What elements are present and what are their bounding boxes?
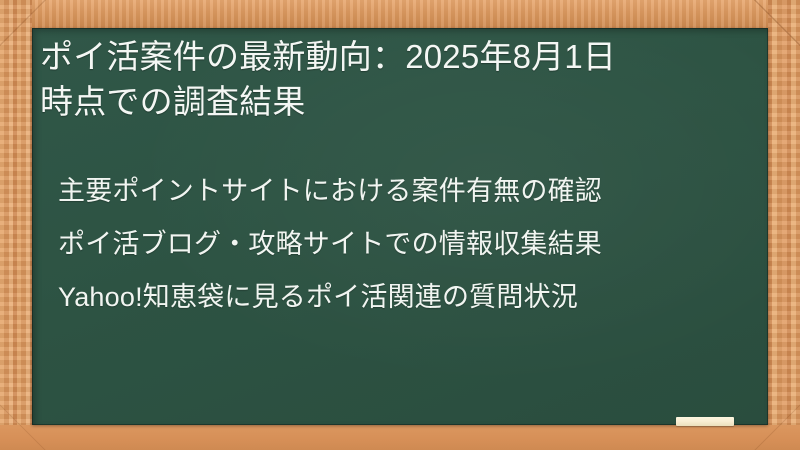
slide-title: ポイ活案件の最新動向：2025年8月1日 時点での調査結果: [40, 34, 758, 124]
frame-rail-left: [0, 0, 32, 450]
chalkboard-slide: ポイ活案件の最新動向：2025年8月1日 時点での調査結果 主要ポイントサイトに…: [0, 0, 800, 450]
frame-rail-top: [0, 0, 800, 28]
bullet-item-2: ポイ活ブログ・攻略サイトでの情報収集結果: [58, 231, 758, 258]
slide-title-line-2: 時点での調査結果: [40, 79, 758, 124]
chalkboard-surface: ポイ活案件の最新動向：2025年8月1日 時点での調査結果 主要ポイントサイトに…: [32, 28, 768, 425]
bullet-item-1: 主要ポイントサイトにおける案件有無の確認: [58, 178, 758, 205]
bullet-item-3: Yahoo!知恵袋に見るポイ活関連の質問状況: [58, 284, 758, 311]
frame-ledge-bottom: [0, 425, 800, 450]
chalk-stick: [676, 417, 734, 426]
bullet-list: 主要ポイントサイトにおける案件有無の確認 ポイ活ブログ・攻略サイトでの情報収集結…: [58, 178, 758, 337]
frame-rail-right: [768, 0, 800, 450]
slide-title-line-1: ポイ活案件の最新動向：2025年8月1日: [40, 34, 758, 79]
